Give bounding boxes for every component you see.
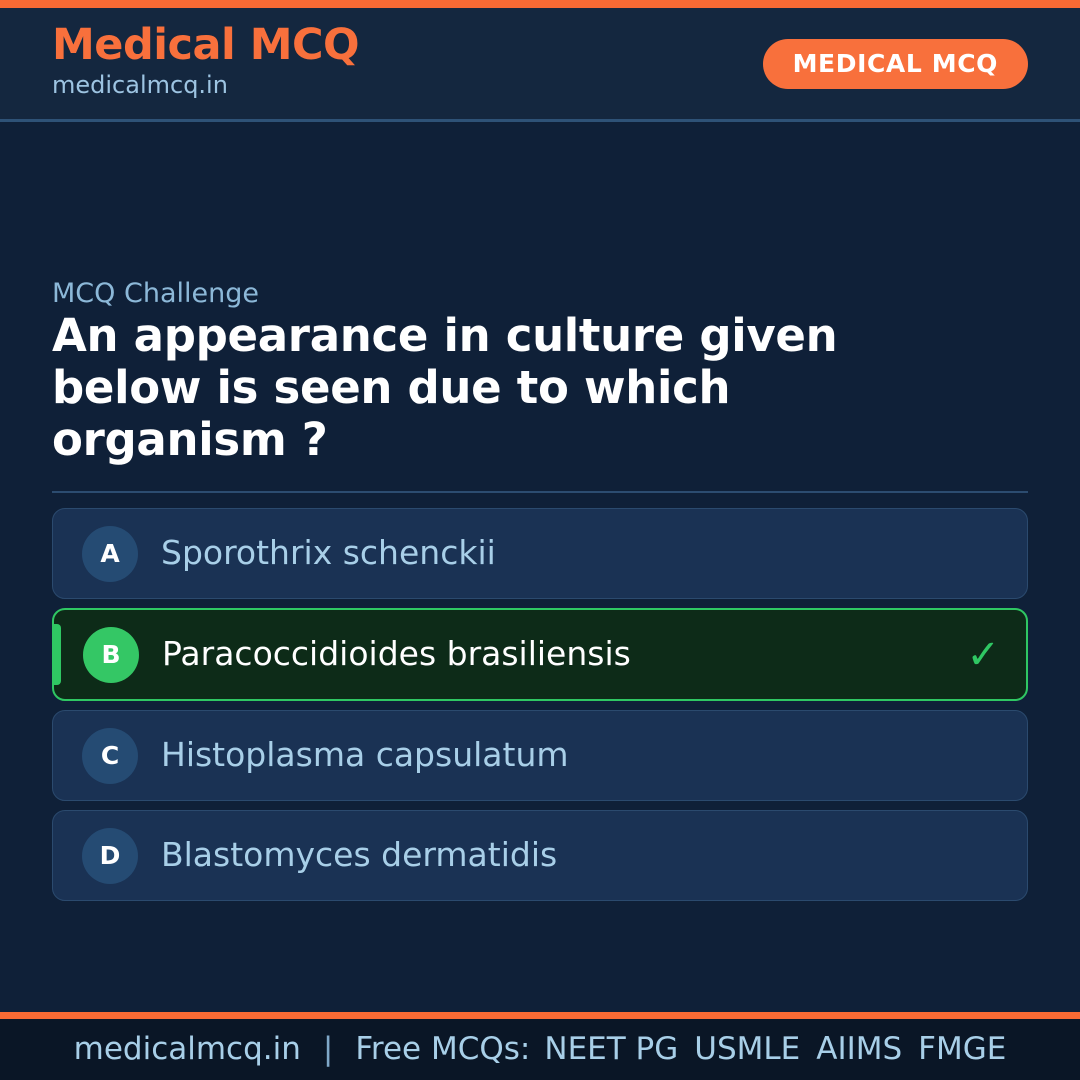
page-header: Medical MCQ medicalmcq.in MEDICAL MCQ (0, 8, 1080, 122)
brand-block: Medical MCQ medicalmcq.in (52, 23, 359, 100)
question-text: An appearance in culture given below is … (52, 310, 972, 467)
option-label: Blastomyces dermatidis (161, 837, 557, 873)
option-label: Sporothrix schenckii (161, 535, 496, 571)
page-footer: medicalmcq.in | Free MCQs: NEET PG USMLE… (0, 1012, 1080, 1080)
option-row-b[interactable]: B Paracoccidioides brasiliensis ✓ (52, 608, 1028, 701)
footer-exam-fmge[interactable]: FMGE (918, 1034, 1006, 1065)
top-accent-strip (0, 0, 1080, 8)
brand-title: Medical MCQ (52, 23, 359, 68)
footer-exam-usmle[interactable]: USMLE (694, 1034, 800, 1065)
check-icon: ✓ (966, 635, 1000, 675)
option-letter-badge: C (82, 728, 138, 784)
main-content: MCQ Challenge An appearance in culture g… (0, 122, 1080, 1012)
footer-site-link[interactable]: medicalmcq.in (74, 1034, 301, 1065)
mcq-card-page: Medical MCQ medicalmcq.in MEDICAL MCQ MC… (0, 0, 1080, 1080)
footer-separator: | (323, 1034, 333, 1065)
option-label: Histoplasma capsulatum (161, 737, 569, 773)
eyebrow-label: MCQ Challenge (52, 280, 259, 307)
option-letter-badge: B (83, 627, 139, 683)
option-letter-badge: A (82, 526, 138, 582)
correct-accent-bar (54, 624, 61, 685)
options-list: A Sporothrix schenckii B Paracoccidioide… (52, 508, 1028, 901)
option-row-c[interactable]: C Histoplasma capsulatum (52, 710, 1028, 801)
header-badge: MEDICAL MCQ (763, 39, 1028, 89)
option-row-d[interactable]: D Blastomyces dermatidis (52, 810, 1028, 901)
question-divider (52, 491, 1028, 493)
option-label: Paracoccidioides brasiliensis (162, 636, 631, 672)
footer-exam-aiims[interactable]: AIIMS (816, 1034, 902, 1065)
option-letter-badge: D (82, 828, 138, 884)
footer-exam-neetpg[interactable]: NEET PG (544, 1034, 678, 1065)
brand-url: medicalmcq.in (52, 70, 359, 100)
footer-inner: medicalmcq.in | Free MCQs: NEET PG USMLE… (74, 1034, 1007, 1065)
footer-free-mcqs-label: Free MCQs: (355, 1034, 530, 1065)
option-row-a[interactable]: A Sporothrix schenckii (52, 508, 1028, 599)
